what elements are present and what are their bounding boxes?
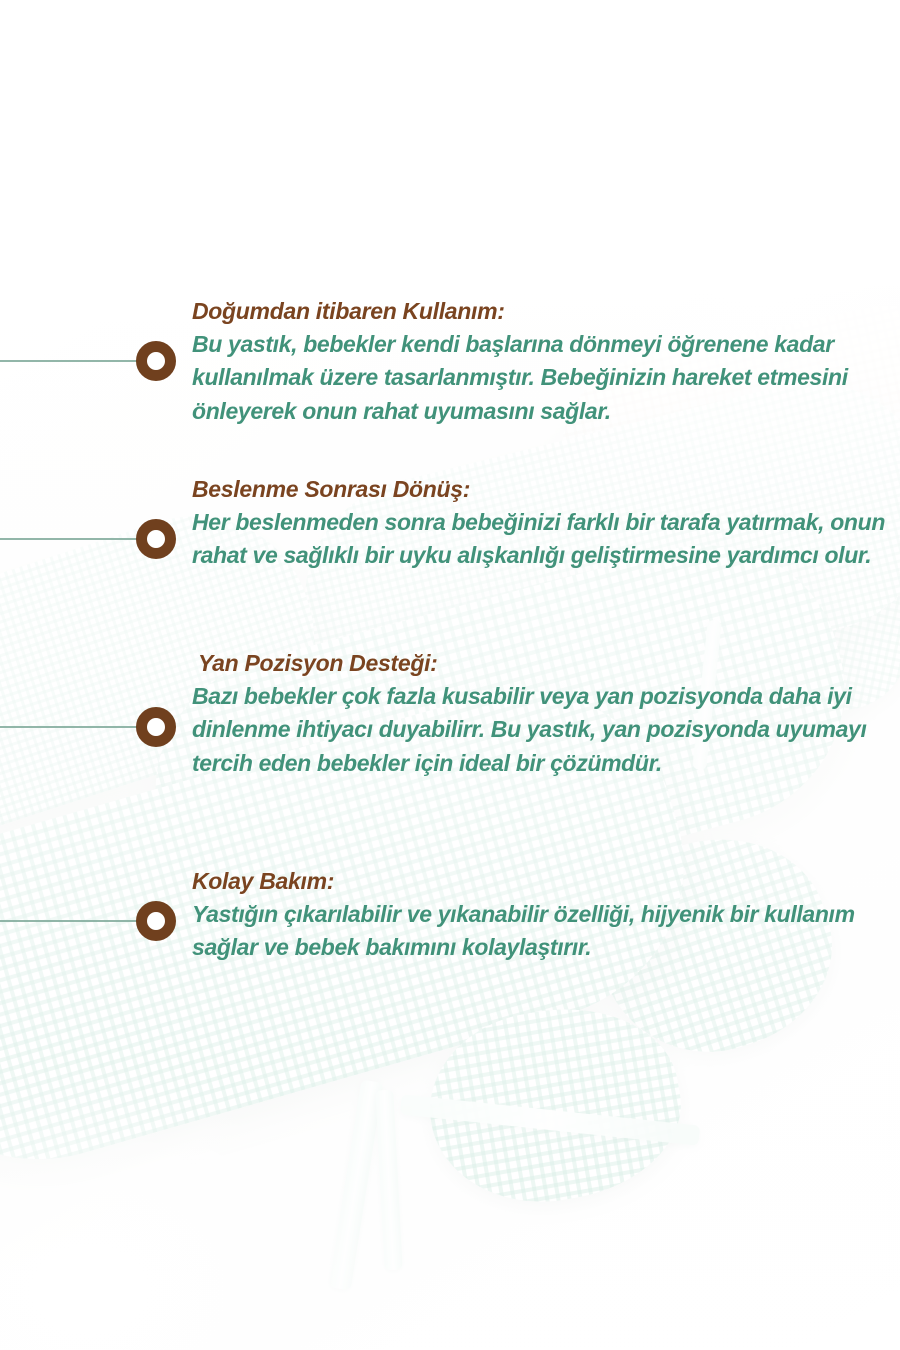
connector-line [0,360,145,362]
product-feature-infographic: Doğumdan itibaren Kullanım: Bu yastık, b… [0,0,900,1350]
feature-body: Bazı bebekler çok fazla kusabilir veya y… [192,680,892,779]
connector-line [0,538,145,540]
ring-bullet-icon [136,519,176,559]
connector-line [0,920,145,922]
ring-bullet-icon [136,707,176,747]
ring-bullet-icon [136,901,176,941]
feature-text-group: Beslenme Sonrası Dönüş: Her beslenmeden … [192,474,892,573]
feature-text-group: Doğumdan itibaren Kullanım: Bu yastık, b… [192,296,892,428]
feature-title: Kolay Bakım: [192,866,892,896]
feature-text-group: Kolay Bakım: Yastığın çıkarılabilir ve y… [192,866,892,965]
connector-line [0,726,145,728]
feature-title: Beslenme Sonrası Dönüş: [192,474,892,504]
feature-text-group: Yan Pozisyon Desteği: Bazı bebekler çok … [192,648,892,780]
feature-body: Yastığın çıkarılabilir ve yıkanabilir öz… [192,898,892,964]
feature-body: Bu yastık, bebekler kendi başlarına dönm… [192,328,892,427]
feature-title: Yan Pozisyon Desteği: [192,648,892,678]
feature-list: Doğumdan itibaren Kullanım: Bu yastık, b… [0,0,900,1350]
ring-bullet-icon [136,341,176,381]
feature-title: Doğumdan itibaren Kullanım: [192,296,892,326]
feature-body: Her beslenmeden sonra bebeğinizi farklı … [192,506,892,572]
